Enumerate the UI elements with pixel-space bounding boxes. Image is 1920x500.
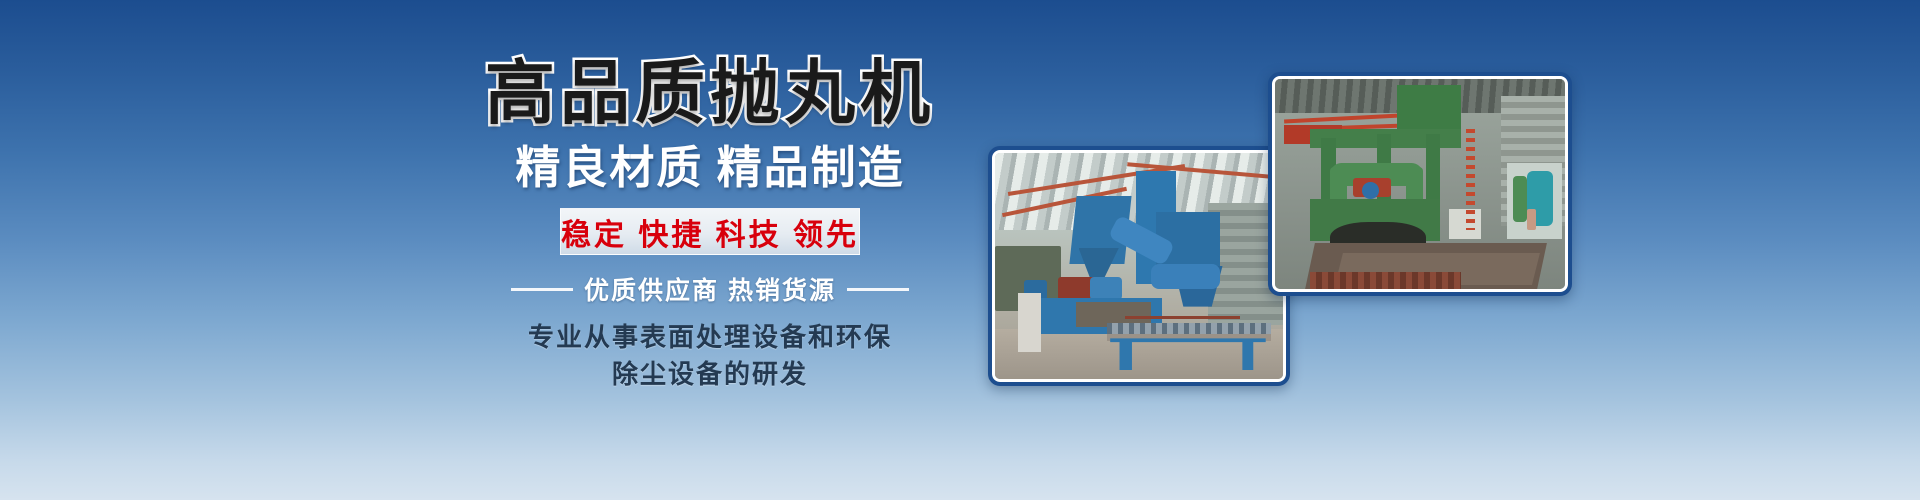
description-line-2: 除尘设备的研发 <box>430 357 990 394</box>
description-line-1: 专业从事表面处理设备和环保 <box>528 323 892 352</box>
supply-tagline-text: 优质供应商 热销货源 <box>584 271 836 307</box>
banner-description: 专业从事表面处理设备和环保 除尘设备的研发 <box>430 320 990 394</box>
keyword-badge-bar: 稳定 快捷 科技 领先 <box>560 208 860 255</box>
page-title: 高品质抛丸机 <box>430 58 990 128</box>
photo-blue-shot-blasting-machine <box>988 146 1290 386</box>
photo-green-shot-blasting-machine <box>1268 72 1572 296</box>
photo-scene-blue <box>995 153 1283 379</box>
supply-tagline-row: 优质供应商 热销货源 <box>430 271 990 307</box>
rule-right-icon <box>847 288 909 291</box>
promo-banner: 高品质抛丸机 精良材质 精品制造 稳定 快捷 科技 领先 优质供应商 热销货源 … <box>0 0 1920 500</box>
photo-frame-inner <box>992 150 1286 382</box>
keyword-badge-text: 稳定 快捷 科技 领先 <box>561 210 859 254</box>
banner-text-block: 高品质抛丸机 精良材质 精品制造 稳定 快捷 科技 领先 优质供应商 热销货源 … <box>430 58 990 394</box>
banner-subheadline: 精良材质 精品制造 <box>430 146 990 191</box>
rule-left-icon <box>511 288 573 291</box>
photo-scene-green <box>1275 79 1565 289</box>
photo-frame-inner <box>1272 76 1568 292</box>
